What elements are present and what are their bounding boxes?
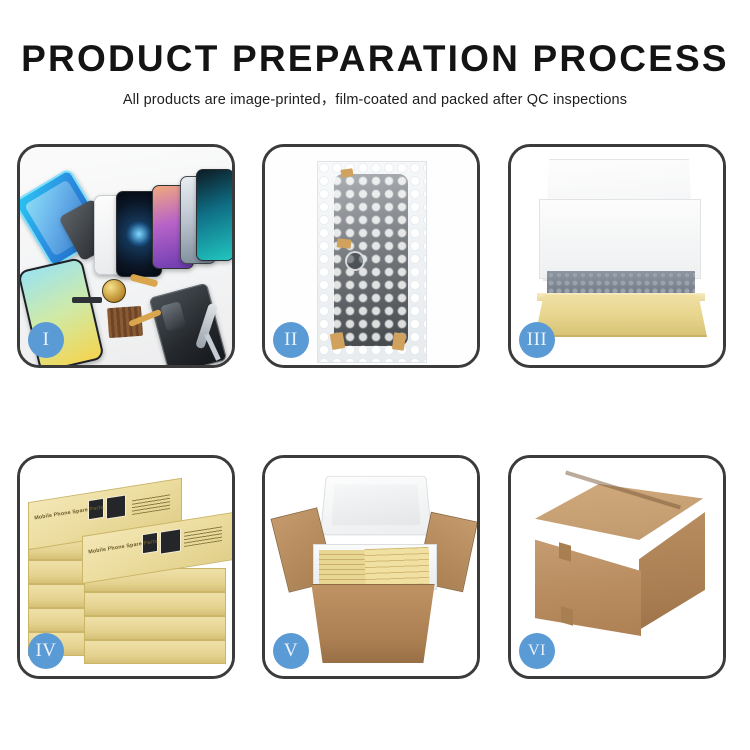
tape-piece-middle bbox=[337, 238, 352, 248]
process-step-3: III bbox=[508, 144, 726, 368]
step-badge-3: III bbox=[519, 322, 555, 358]
box-lid-inner bbox=[539, 199, 701, 279]
speaker-coil-icon bbox=[102, 279, 126, 303]
carton-tape-upper bbox=[559, 542, 571, 561]
step-badge-2: II bbox=[273, 322, 309, 358]
step-badge-5: V bbox=[273, 633, 309, 669]
process-step-4: Mobile Phone Spare Parts Mobile Phone Sp… bbox=[17, 455, 235, 679]
carton-body bbox=[303, 584, 443, 663]
boxed-products-stack-front bbox=[364, 547, 429, 585]
kraft-tray-base bbox=[535, 295, 707, 337]
tape-piece-bottom-left bbox=[330, 332, 346, 350]
step-badge-6: VI bbox=[519, 633, 555, 669]
carton-tape-lower bbox=[561, 606, 573, 625]
box-window-2 bbox=[106, 494, 126, 519]
process-step-5: V bbox=[262, 455, 480, 679]
process-step-grid: I II bbox=[0, 0, 750, 750]
camera-lens-icon bbox=[345, 251, 365, 271]
tape-piece-bottom-right bbox=[392, 332, 406, 351]
phone-teal bbox=[196, 169, 232, 261]
tape-piece-top bbox=[341, 168, 354, 178]
foam-lid bbox=[320, 476, 432, 536]
process-step-6: VI bbox=[508, 455, 726, 679]
stack-layer-right-4 bbox=[84, 640, 226, 664]
product-preparation-infographic: PRODUCT PREPARATION PROCESS All products… bbox=[0, 0, 750, 750]
bubble-texture-overlay bbox=[318, 162, 426, 362]
step-badge-4: IV bbox=[28, 633, 64, 669]
stack-layer-right-2 bbox=[84, 592, 226, 616]
process-step-2: II bbox=[262, 144, 480, 368]
box-window-4 bbox=[160, 528, 181, 554]
carton-front-face bbox=[535, 524, 641, 636]
battery-strip-icon bbox=[72, 297, 102, 303]
process-step-1: I bbox=[17, 144, 235, 368]
step-badge-1: I bbox=[28, 322, 64, 358]
stack-layer-right-3 bbox=[84, 616, 226, 640]
